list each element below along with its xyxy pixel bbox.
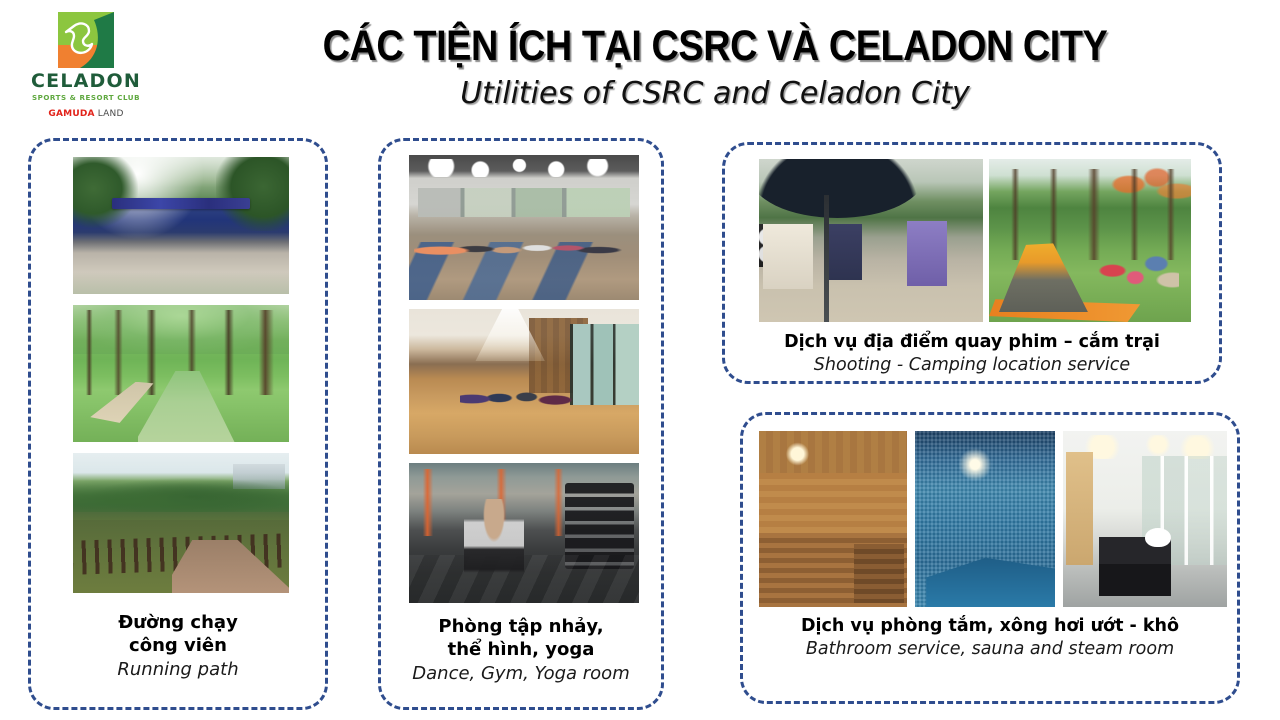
caption-fitness-rooms-vn: Phòng tập nhảy, thể hình, yoga <box>387 615 655 661</box>
slide-header: CELADON SPORTS & RESORT CLUB GAMUDA LAND… <box>0 0 1280 125</box>
caption-bathroom-sauna-vn: Dịch vụ phòng tắm, xông hơi ướt - khô <box>749 615 1231 637</box>
brand-logo: CELADON SPORTS & RESORT CLUB GAMUDA LAND <box>22 12 150 119</box>
photo-lake-boardwalk <box>73 453 289 593</box>
photo-shower-room <box>1063 431 1227 607</box>
caption-shooting-camping-en: Shooting - Camping location service <box>731 354 1213 377</box>
panel-shooting-camping: Dịch vụ địa điểm quay phim – cắm trại Sh… <box>722 142 1222 384</box>
photo-dry-sauna <box>759 431 907 607</box>
photo-film-shoot-set <box>759 159 983 322</box>
celadon-square-logo-icon <box>58 12 114 68</box>
panel-running-path: Đường chạy công viên Running path <box>28 138 328 710</box>
photo-gym-weights <box>409 463 639 603</box>
parent-brand: GAMUDA LAND <box>22 110 150 119</box>
panel-fitness-rooms: Phòng tập nhảy, thể hình, yoga Dance, Gy… <box>378 138 664 710</box>
caption-bathroom-sauna: Dịch vụ phòng tắm, xông hơi ướt - khô Ba… <box>743 615 1237 661</box>
photo-family-camping <box>989 159 1191 322</box>
caption-running-path-en: Running path <box>37 658 319 681</box>
caption-running-path-vn: Đường chạy công viên <box>37 611 319 657</box>
photo-park-walking-paths <box>73 305 289 442</box>
photo-yoga-class <box>409 155 639 300</box>
parent-brand-land: LAND <box>95 109 124 119</box>
brand-tagline: SPORTS & RESORT CLUB <box>22 94 150 101</box>
caption-fitness-rooms: Phòng tập nhảy, thể hình, yoga Dance, Gy… <box>381 615 661 685</box>
brand-wordmark: CELADON <box>22 72 150 91</box>
caption-fitness-rooms-en: Dance, Gym, Yoga room <box>387 662 655 685</box>
panel-bathroom-sauna: Dịch vụ phòng tắm, xông hơi ướt - khô Ba… <box>740 412 1240 704</box>
photo-running-event-crowd <box>73 157 289 294</box>
parent-brand-gamuda: GAMUDA <box>48 109 94 119</box>
caption-running-path: Đường chạy công viên Running path <box>31 611 325 681</box>
photo-dance-studio <box>409 309 639 454</box>
caption-bathroom-sauna-en: Bathroom service, sauna and steam room <box>749 638 1231 661</box>
photo-steam-room <box>915 431 1055 607</box>
caption-shooting-camping-vn: Dịch vụ địa điểm quay phim – cắm trại <box>731 331 1213 353</box>
caption-shooting-camping: Dịch vụ địa điểm quay phim – cắm trại Sh… <box>725 331 1219 377</box>
page-title-vn: CÁC TIỆN ÍCH TẠI CSRC VÀ CELADON CITY <box>227 22 1204 71</box>
page-title-en: Utilities of CSRC and Celadon City <box>160 76 1270 111</box>
